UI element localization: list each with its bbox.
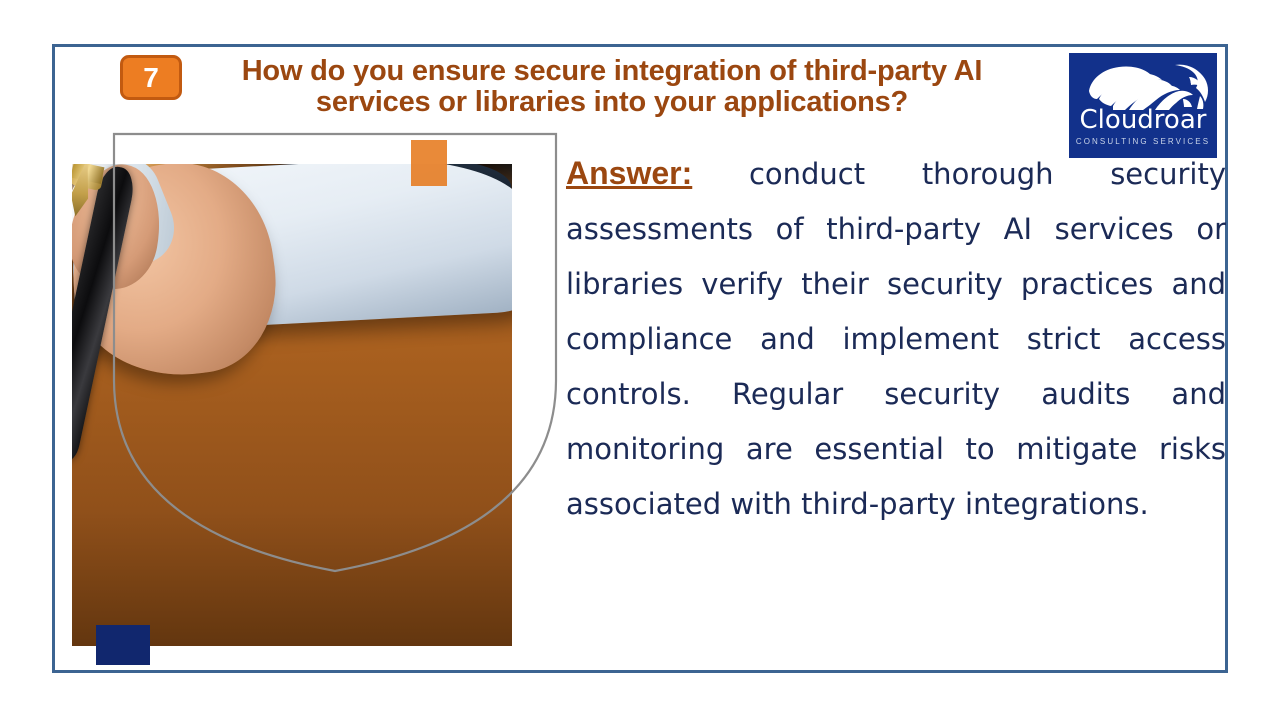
logo-tagline: CONSULTING SERVICES [1069,137,1217,146]
answer-label: Answer: [566,155,692,191]
cloudroar-logo: Cloudroar CONSULTING SERVICES [1069,53,1217,158]
orange-accent-square [411,140,447,186]
slide-canvas: 7 How do you ensure secure integration o… [0,0,1280,720]
slide-title: How do you ensure secure integration of … [182,56,1042,119]
lion-head-icon [1069,55,1217,111]
illustration-photo [72,164,512,646]
answer-block: Answer: conduct thorough security assess… [566,146,1226,676]
question-number-label: 7 [143,64,159,92]
navy-accent-square [96,625,150,665]
logo-wordmark: Cloudroar [1069,107,1217,133]
question-number-badge: 7 [120,55,182,100]
answer-text: conduct thorough security assessments of… [566,157,1226,521]
